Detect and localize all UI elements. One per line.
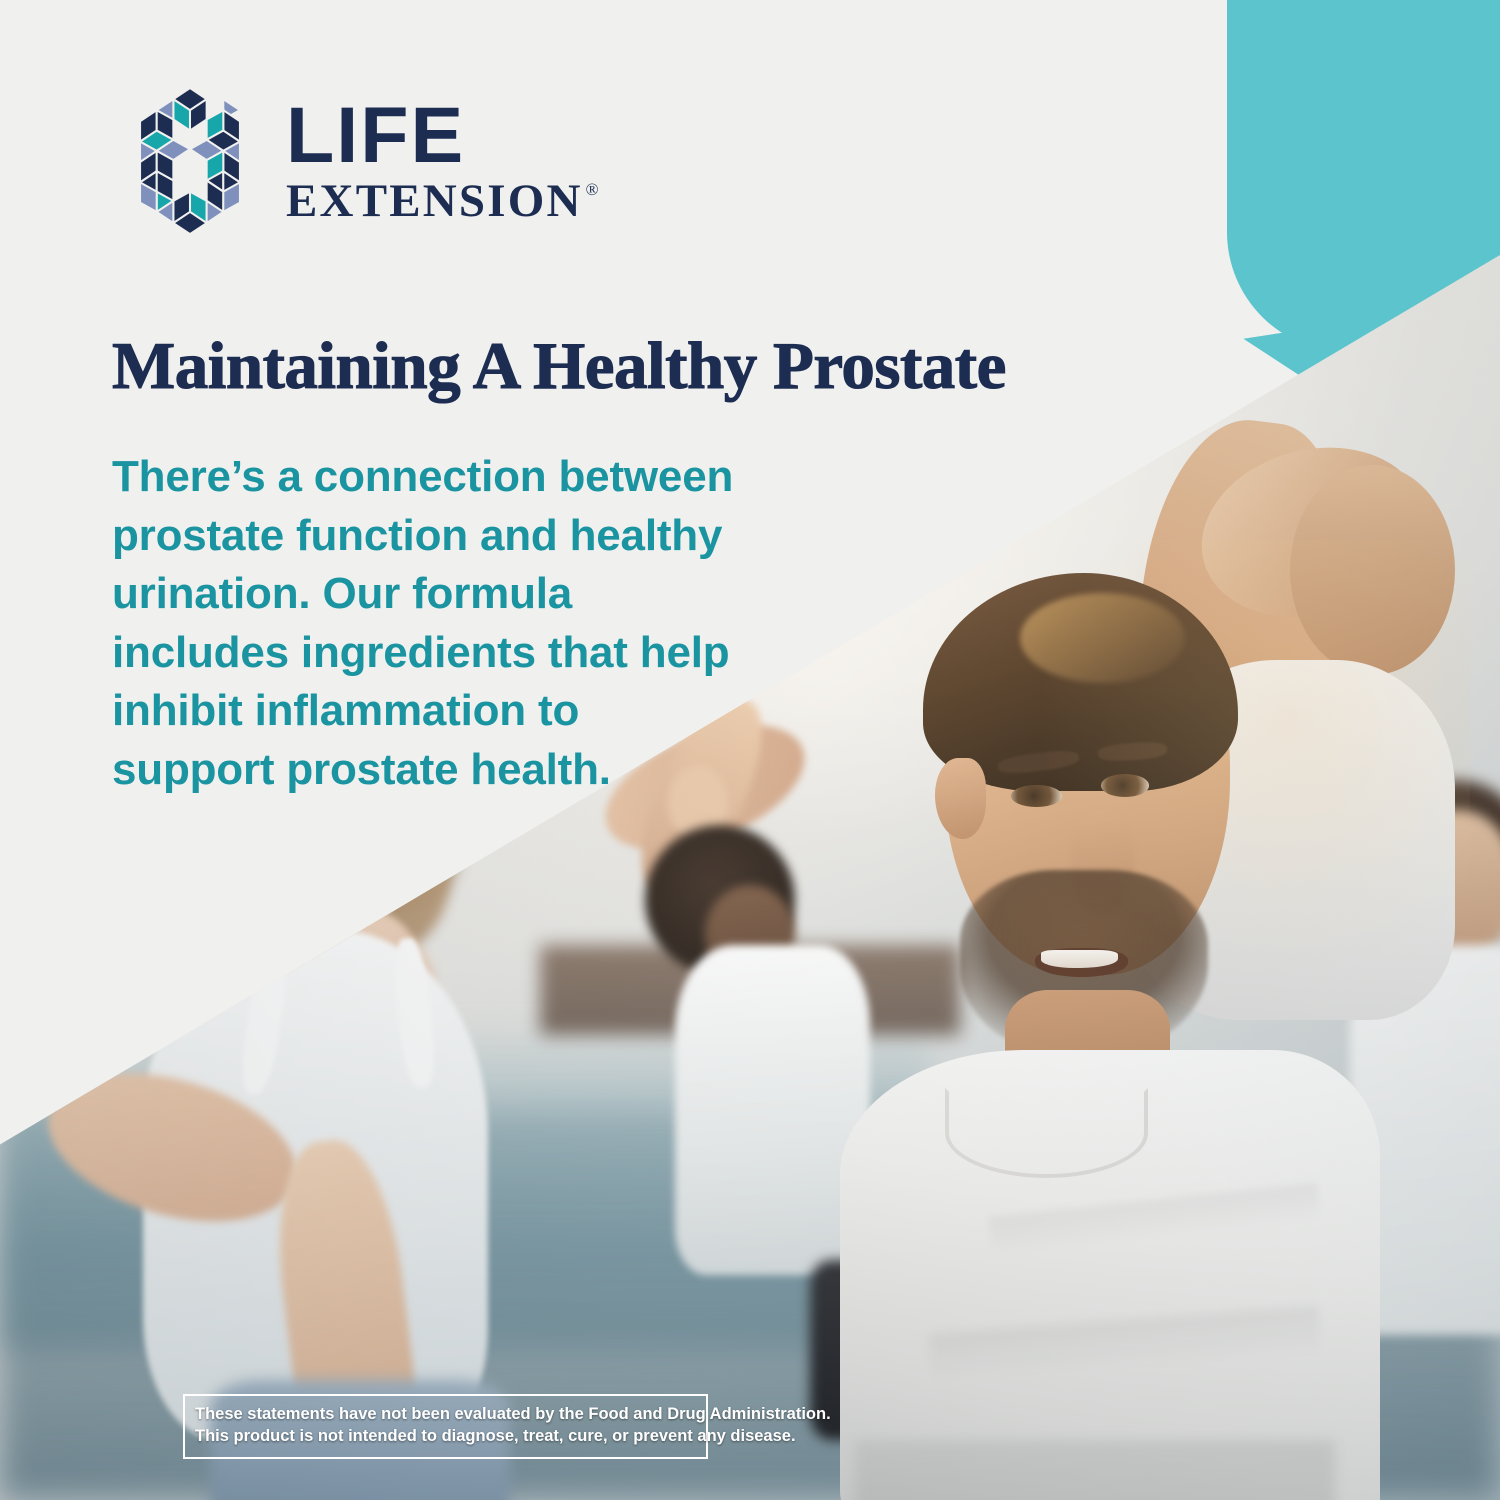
foreground-man-elbow: [1290, 465, 1455, 675]
foreground-man-shirt-hem: [855, 1440, 1335, 1500]
life-extension-hexagon-logo-icon: [116, 84, 264, 240]
brand-wordmark: LIFE EXTENSION ®: [286, 99, 599, 225]
foreground-man-eye-left: [1011, 785, 1062, 808]
fda-disclaimer-line2: This product is not intended to diagnose…: [195, 1426, 696, 1448]
marketing-banner: LIFE EXTENSION ® Maintaining A Healthy P…: [0, 0, 1500, 1500]
body-copy: There’s a connection between prostate fu…: [112, 448, 752, 799]
brand-name-line1: LIFE: [286, 99, 599, 170]
foreground-man-hair-highlight: [1020, 593, 1185, 683]
page-title: Maintaining A Healthy Prostate: [112, 331, 1132, 401]
foreground-man-teeth: [1041, 950, 1118, 969]
foreground-man-eye-right: [1101, 774, 1149, 797]
fda-disclaimer: These statements have not been evaluated…: [183, 1394, 708, 1459]
foreground-man-collar: [945, 1088, 1148, 1179]
registered-trademark-icon: ®: [586, 180, 599, 200]
fda-disclaimer-line1: These statements have not been evaluated…: [195, 1404, 696, 1426]
brand-name-line2: EXTENSION: [286, 178, 583, 225]
brand-logo[interactable]: LIFE EXTENSION ®: [116, 84, 599, 240]
